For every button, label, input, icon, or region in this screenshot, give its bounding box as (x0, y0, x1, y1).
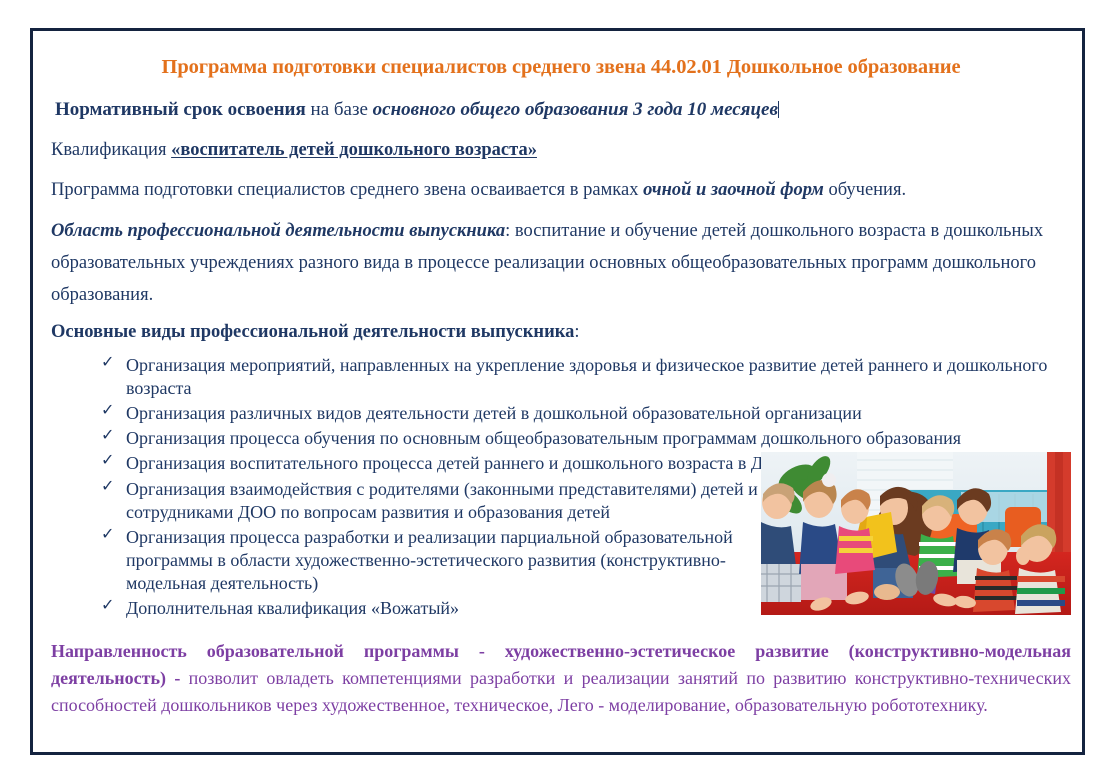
check-mark-icon: ✓ (101, 525, 114, 545)
normative-term-line: Нормативный срок освоения на базе основн… (51, 98, 1071, 122)
child-left-3 (835, 489, 875, 574)
program-focus-body: позволит овладеть компетенциями разработ… (51, 668, 1071, 715)
program-focus-paragraph: Направленность образовательной программы… (51, 638, 1071, 720)
list-item-label: Организация процесса разработки и реализ… (126, 526, 786, 595)
normative-term-middle: на базе (306, 99, 373, 120)
qualification-label: Квалификация (51, 140, 171, 160)
list-item-label: Дополнительная квалификация «Вожатый» (126, 597, 786, 620)
activity-kinds-heading-text: Основные виды профессиональной деятельно… (51, 322, 574, 342)
study-forms-before: Программа подготовки специалистов средне… (51, 180, 643, 200)
list-item: ✓ Организация процесса разработки и реал… (101, 526, 786, 595)
classroom-photo (761, 452, 1071, 615)
professional-area-emphasis: Область профессиональной деятельности вы… (51, 221, 505, 241)
check-mark-icon: ✓ (101, 596, 114, 616)
check-mark-icon: ✓ (101, 477, 114, 497)
check-mark-icon: ✓ (101, 401, 114, 421)
study-forms-after: обучения. (824, 180, 906, 200)
qualification-value: «воспитатель детей дошкольного возраста» (171, 140, 537, 160)
professional-area-paragraph: Область профессиональной деятельности вы… (51, 216, 1071, 311)
activity-kinds-heading: Основные виды профессиональной деятельно… (51, 321, 1071, 345)
check-mark-icon: ✓ (101, 426, 114, 446)
normative-term-value: основного общего образования 3 года 10 м… (373, 99, 778, 120)
list-item-label: Организация взаимодействия с родителями … (126, 478, 786, 524)
activity-kinds-heading-colon: : (574, 322, 579, 342)
check-mark-icon: ✓ (101, 353, 114, 373)
page-title: Программа подготовки специалистов средне… (51, 55, 1071, 80)
qualification-line: Квалификация «воспитатель детей дошкольн… (51, 139, 1071, 163)
check-mark-icon: ✓ (101, 451, 114, 471)
text-cursor-caret (778, 101, 779, 118)
list-item: ✓ Организация различных видов деятельнос… (101, 402, 1071, 425)
list-item: ✓ Дополнительная квалификация «Вожатый» (101, 597, 786, 620)
study-forms-emphasis: очной и заочной форм (643, 180, 824, 200)
list-item: ✓ Организация взаимодействия с родителям… (101, 478, 786, 524)
list-item: ✓ Организация процесса обучения по основ… (101, 427, 1071, 450)
document-page-frame: Программа подготовки специалистов средне… (30, 28, 1085, 755)
normative-term-label: Нормативный срок освоения (55, 99, 306, 120)
list-item: ✓ Организация мероприятий, направленных … (101, 354, 1071, 400)
document-content: Программа подготовки специалистов средне… (51, 43, 1071, 720)
list-item-label: Организация процесса обучения по основны… (126, 427, 1071, 450)
study-forms-line: Программа подготовки специалистов средне… (51, 179, 1071, 203)
classroom-photo-image (761, 452, 1071, 615)
list-item-label: Организация мероприятий, направленных на… (126, 354, 1071, 400)
list-item-label: Организация различных видов деятельности… (126, 402, 1071, 425)
